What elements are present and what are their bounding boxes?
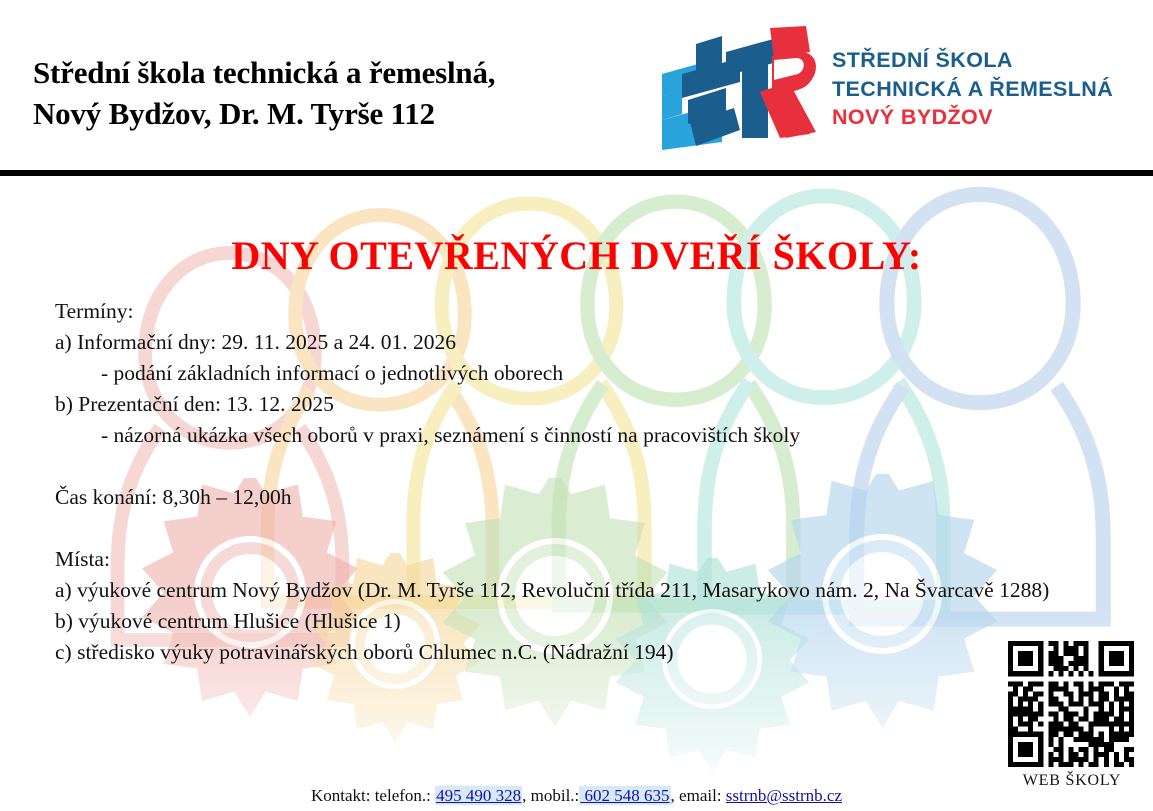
school-name: Střední škola technická a řemeslná, Nový… <box>33 52 653 134</box>
header-divider <box>0 170 1153 176</box>
qr-code-icon[interactable] <box>1008 641 1134 767</box>
spacer-1 <box>55 451 1153 482</box>
contact-label: Kontakt: telefon.: <box>311 786 431 805</box>
logo-text-block: STŘEDNÍ ŠKOLA TECHNICKÁ A ŘEMESLNÁ NOVÝ … <box>832 46 1113 132</box>
poster-header: Střední škola technická a řemeslná, Nový… <box>0 0 1153 178</box>
logo-text-line-1: STŘEDNÍ ŠKOLA <box>832 46 1113 75</box>
page-title: DNY OTEVŘENÝCH DVEŘÍ ŠKOLY: <box>0 232 1153 279</box>
contact-footer: Kontakt: telefon.: 495 490 328, mobil.: … <box>0 786 1153 806</box>
time-line: Čas konání: 8,30h – 12,00h <box>55 482 1153 513</box>
mobile-label: , mobil.: <box>522 786 579 805</box>
terms-heading: Termíny: <box>55 296 1153 327</box>
term-b: b) Prezentační den: 13. 12. 2025 <box>55 389 1153 420</box>
str-logo-mark <box>660 26 820 152</box>
phone-link[interactable]: 495 490 328 <box>435 786 522 805</box>
qr-section: WEB ŠKOLY <box>1008 641 1136 790</box>
email-label: , email: <box>671 786 722 805</box>
logo-text-line-3: NOVÝ BYDŽOV <box>832 103 1113 132</box>
poster-page: Střední škola technická a řemeslná, Nový… <box>0 0 1153 811</box>
logo-text-line-2: TECHNICKÁ A ŘEMESLNÁ <box>832 75 1113 104</box>
places-heading: Místa: <box>55 544 1153 575</box>
spacer-2 <box>55 513 1153 544</box>
place-c: c) středisko výuky potravinářských oborů… <box>55 637 1153 668</box>
term-a: a) Informační dny: 29. 11. 2025 a 24. 01… <box>55 327 1153 358</box>
school-name-line-1: Střední škola technická a řemeslná, <box>33 55 495 90</box>
school-name-line-2: Nový Bydžov, Dr. M. Tyrše 112 <box>33 93 653 134</box>
poster-content: DNY OTEVŘENÝCH DVEŘÍ ŠKOLY: Termíny: a) … <box>0 178 1153 811</box>
mobile-link[interactable]: 602 548 635 <box>579 786 670 805</box>
email-link[interactable]: sstrnb@sstrnb.cz <box>726 786 842 805</box>
school-logo: STŘEDNÍ ŠKOLA TECHNICKÁ A ŘEMESLNÁ NOVÝ … <box>660 26 1140 152</box>
place-b: b) výukové centrum Hlušice (Hlušice 1) <box>55 606 1153 637</box>
place-a: a) výukové centrum Nový Bydžov (Dr. M. T… <box>55 575 1153 606</box>
poster-body: Termíny: a) Informační dny: 29. 11. 2025… <box>55 296 1153 668</box>
term-b-detail: - názorná ukázka všech oborů v praxi, se… <box>55 420 1153 451</box>
term-a-detail: - podání základních informací o jednotli… <box>55 358 1153 389</box>
